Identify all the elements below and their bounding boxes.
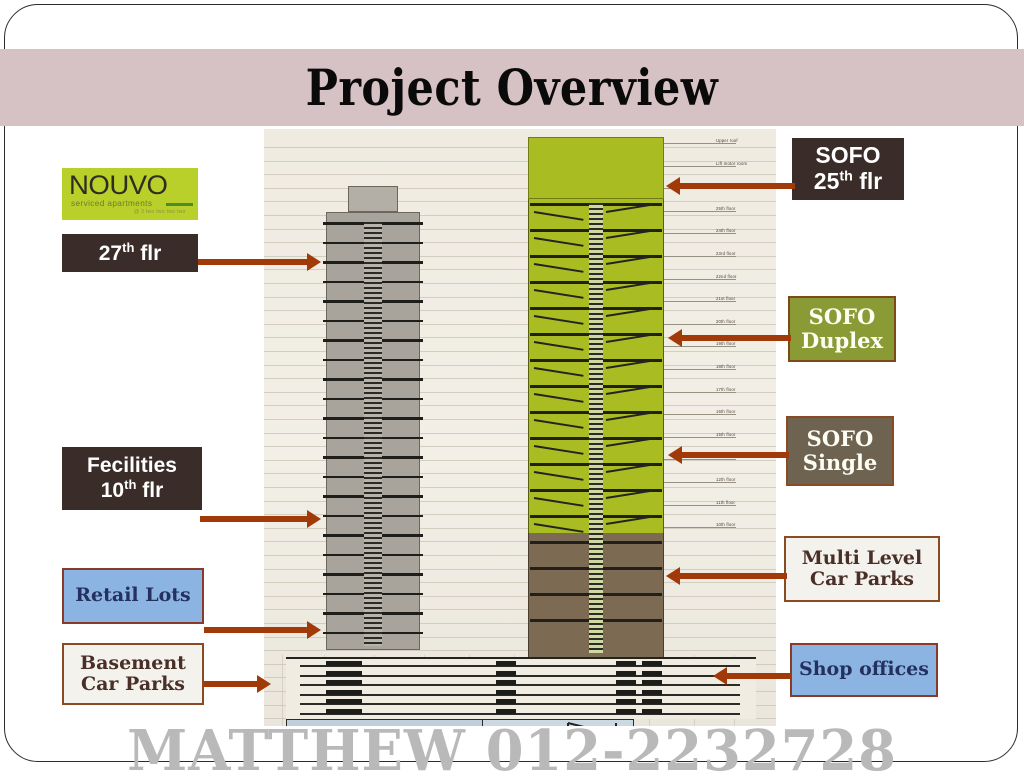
label-sofo-single[interactable]: SOFO Single [786, 416, 894, 486]
gridline-vertical [282, 655, 283, 726]
car-park-deck [300, 703, 740, 705]
floor-tick-rule [664, 143, 736, 144]
label-sofo-25th-flr[interactable]: SOFO 25th flr [792, 138, 904, 200]
car-park-deck [300, 665, 740, 667]
nouvo-dash-rule [166, 203, 193, 206]
car-park-opening [496, 680, 516, 685]
floor-tick-label: Upper roof [716, 138, 738, 143]
car-park-opening [642, 709, 662, 714]
floor-tick-label: 24th floor [716, 228, 735, 233]
floor-tick-rule [664, 505, 736, 506]
label-line-1: Fecilities [87, 454, 177, 478]
floor-tick-label: 16th floor [716, 409, 735, 414]
car-park-opening [642, 680, 662, 685]
car-park-opening [642, 690, 662, 695]
label-line-1: Shop offices [799, 659, 929, 680]
gridline [264, 147, 776, 148]
floor-tick-rule [664, 301, 736, 302]
label-line-1: Retail Lots [75, 585, 191, 606]
floor-tick-label: 10th floor [716, 522, 735, 527]
car-park-deck [300, 713, 740, 715]
label-line-1: SOFO [807, 427, 874, 451]
floor-tick-label: 12th floor [716, 477, 735, 482]
floor-tick-rule [664, 324, 736, 325]
label-line-2: 10th flr [101, 478, 164, 503]
floor-tick-label: 11th floor [716, 500, 735, 505]
label-line-1: Multi Level [802, 548, 922, 569]
floor-tick-label: 17th floor [716, 387, 735, 392]
car-park-opening [342, 680, 362, 685]
arrow-basement-car-parks [204, 681, 258, 687]
car-park-deck [300, 675, 740, 677]
car-park-deck [300, 684, 740, 686]
floor-tick-rule [664, 414, 736, 415]
slide-canvas: Project Overview Upper roofLift motor ro… [0, 0, 1024, 768]
floor-tick-rule [664, 482, 736, 483]
car-park-deck [300, 694, 740, 696]
car-park-opening [496, 661, 516, 666]
tower-left-roof-cap [348, 186, 398, 212]
floor-tick-label: 19th floor [716, 341, 735, 346]
floor-tick-rule [664, 166, 736, 167]
floor-tick-rule [664, 392, 736, 393]
car-park-opening [496, 671, 516, 676]
label-line-1: 27th flr [99, 241, 162, 266]
nouvo-tagline: serviced apartments [71, 199, 152, 208]
floor-tick-rule [664, 437, 736, 438]
label-nouvo-27th-flr[interactable]: 27th flr [62, 234, 198, 272]
building-section-diagram: Upper roofLift motor roomLower roof25th … [264, 129, 776, 726]
arrow-fecilities [200, 516, 308, 522]
label-sofo-duplex[interactable]: SOFO Duplex [788, 296, 896, 362]
label-line-1: SOFO [815, 143, 880, 169]
car-park-opening [616, 671, 636, 676]
label-multi-level-car-parks[interactable]: Multi Level Car Parks [784, 536, 940, 602]
gridline [264, 650, 776, 651]
arrow-sofo-duplex [681, 335, 791, 341]
gridline [264, 174, 776, 175]
car-park-opening [616, 661, 636, 666]
tower-right-crown [528, 137, 664, 199]
floor-tick-rule [664, 233, 736, 234]
car-park-opening [496, 690, 516, 695]
floor-tick-label: 15th floor [716, 432, 735, 437]
tower-left-nouvo [326, 212, 420, 650]
floor-tick-rule [664, 369, 736, 370]
floor-tick-rule [664, 527, 736, 528]
floor-tick-label: Lift motor room [716, 161, 747, 166]
label-retail-lots[interactable]: Retail Lots [62, 568, 204, 624]
car-park-opening [342, 690, 362, 695]
floor-tick-rule [664, 256, 736, 257]
car-park-opening [642, 671, 662, 676]
car-park-opening [342, 709, 362, 714]
label-line-2: Car Parks [81, 674, 185, 695]
floor-tick-rule [664, 211, 736, 212]
arrow-multi-level-car-parks [679, 573, 787, 579]
nouvo-wordmark: NOUVO [69, 170, 167, 201]
tower-left-core-shaft [364, 222, 382, 646]
arrow-shop-offices [726, 673, 792, 679]
car-park-opening [342, 671, 362, 676]
label-fecilities-10th-flr[interactable]: Fecilities 10th flr [62, 447, 202, 510]
car-park-opening [616, 690, 636, 695]
car-park-opening [342, 699, 362, 704]
car-park-opening [642, 661, 662, 666]
car-park-opening [616, 680, 636, 685]
label-basement-car-parks[interactable]: Basement Car Parks [62, 643, 204, 705]
label-line-1: Basement [80, 653, 186, 674]
tower-right-core-shaft [589, 203, 603, 653]
nouvo-logo: NOUVO serviced apartments @ 3 two two tw… [62, 168, 198, 220]
arrow-sofo-single [681, 452, 789, 458]
floor-tick-rule [664, 279, 736, 280]
multi-level-car-park-structure [286, 657, 756, 719]
car-park-opening [496, 709, 516, 714]
car-park-opening [642, 699, 662, 704]
floor-tick-label: 20th floor [716, 319, 735, 324]
label-line-2: Duplex [801, 329, 883, 353]
floor-tick-label: 25th floor [716, 206, 735, 211]
tower-right-sofo [528, 137, 664, 657]
car-park-opening [342, 661, 362, 666]
arrow-retail-lots [204, 627, 308, 633]
arrow-nouvo-27th [198, 259, 308, 265]
label-line-1: SOFO [809, 305, 876, 329]
page-title: Project Overview [306, 58, 719, 117]
floor-tick-label: 21st floor [716, 296, 735, 301]
nouvo-subtagline: @ 3 two two two two [134, 209, 186, 215]
label-shop-offices[interactable]: Shop offices [790, 643, 938, 697]
car-park-opening [496, 699, 516, 704]
contact-watermark: MATTHEW 012-2232728 [15, 718, 1008, 784]
floor-tick-label: 18th floor [716, 364, 735, 369]
label-line-2: Single [803, 451, 877, 475]
gridline [264, 201, 776, 202]
floor-tick-label: 22nd floor [716, 274, 737, 279]
car-park-opening [616, 699, 636, 704]
gridline [264, 161, 776, 162]
arrow-sofo-25th [679, 183, 795, 189]
floor-tick-label: 23rd floor [716, 251, 736, 256]
label-line-2: 25th flr [814, 169, 882, 195]
car-park-opening [616, 709, 636, 714]
title-banner: Project Overview [0, 49, 1024, 126]
label-line-2: Car Parks [810, 569, 914, 590]
